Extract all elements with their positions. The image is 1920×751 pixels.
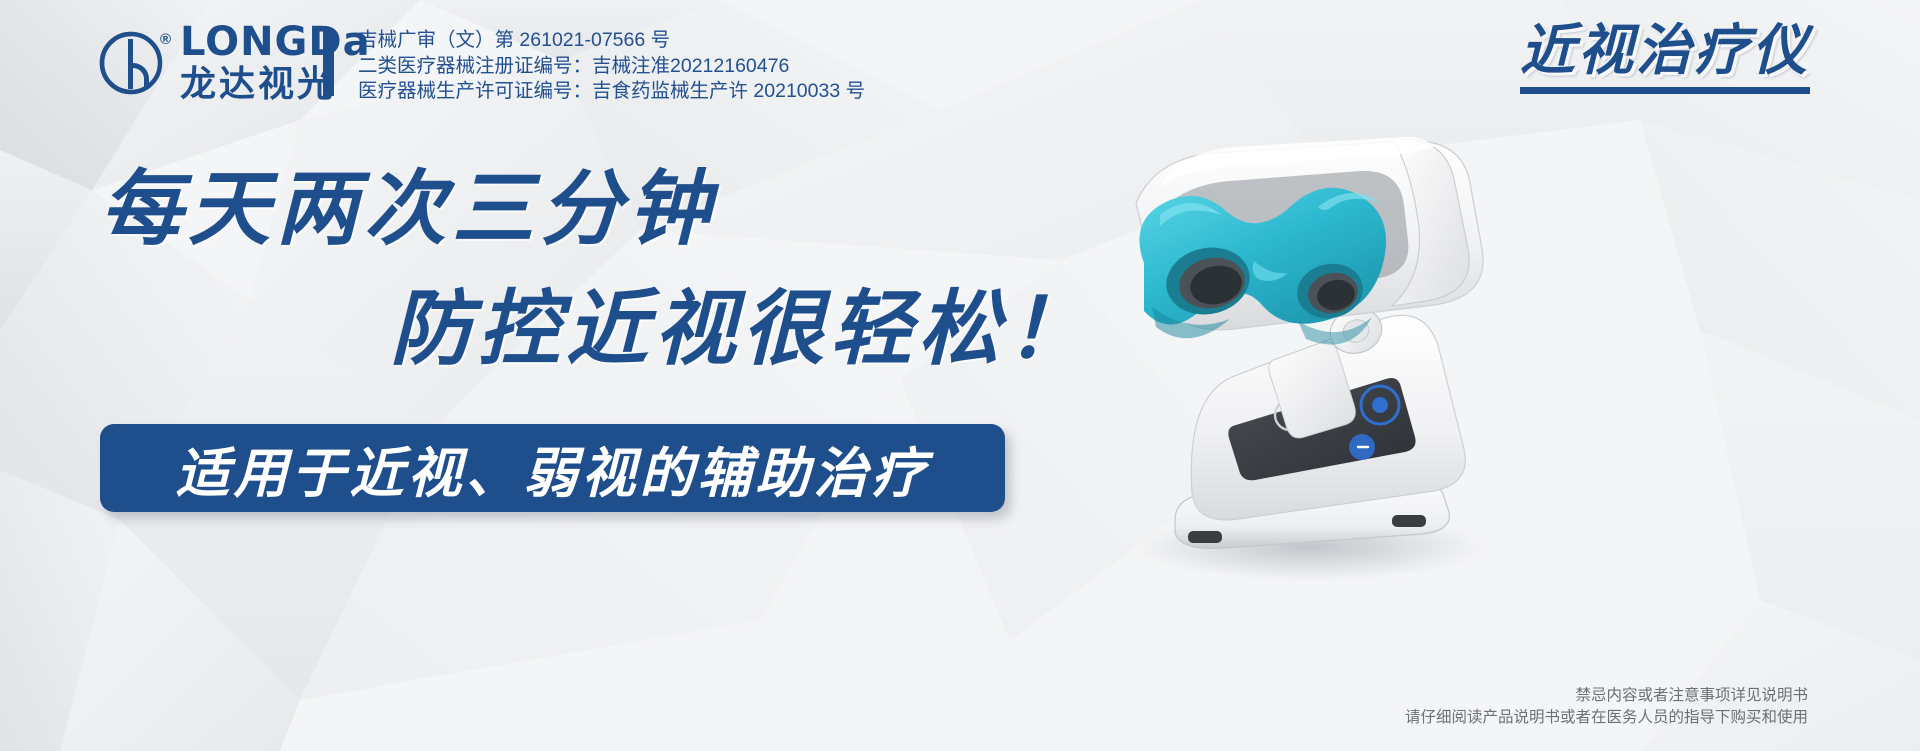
brand-latin-name: LONGDa xyxy=(180,22,371,62)
product-title: 近视治疗仪 xyxy=(1520,22,1810,80)
disclaimer-line-1: 禁忌内容或者注意事项详见说明书 xyxy=(1405,685,1808,707)
myopia-treatment-device-image xyxy=(1040,95,1560,595)
brand-chinese-name: 龙达视光 xyxy=(180,66,371,102)
indication-band-text: 适用于近视、弱视的辅助治疗 xyxy=(176,429,930,508)
regulatory-line-3: 医疗器械生产许可证编号：吉食药监械生产许 20210033 号 xyxy=(358,79,865,105)
product-title-block: 近视治疗仪 xyxy=(1520,22,1810,94)
headline-line-2: 防控近视很轻松！ xyxy=(390,288,1094,370)
regulatory-line-2: 二类医疗器械注册证编号：吉械注准20212160476 xyxy=(358,54,865,80)
indication-band: 适用于近视、弱视的辅助治疗 xyxy=(100,424,1005,512)
advertisement-banner: ® LONGDa 龙达视光 吉械广审（文）第 261021-07566 号 二类… xyxy=(0,0,1920,751)
disclaimer-text: 禁忌内容或者注意事项详见说明书 请仔细阅读产品说明书或者在医务人员的指导下购买和… xyxy=(1405,685,1808,729)
longda-circle-logo-icon: ® xyxy=(98,27,168,97)
headline-line-1: 每天两次三分钟 xyxy=(100,168,716,250)
product-title-underline xyxy=(1520,87,1810,94)
header-divider xyxy=(323,30,334,96)
disclaimer-line-2: 请仔细阅读产品说明书或者在医务人员的指导下购买和使用 xyxy=(1405,707,1808,729)
regulatory-text-block: 吉械广审（文）第 261021-07566 号 二类医疗器械注册证编号：吉械注准… xyxy=(358,28,865,105)
regulatory-line-1: 吉械广审（文）第 261021-07566 号 xyxy=(358,28,865,54)
brand-wordmark: LONGDa 龙达视光 xyxy=(180,22,371,102)
banner-header: ® LONGDa 龙达视光 吉械广审（文）第 261021-07566 号 二类… xyxy=(0,0,1920,120)
registered-trademark-symbol: ® xyxy=(160,31,171,48)
